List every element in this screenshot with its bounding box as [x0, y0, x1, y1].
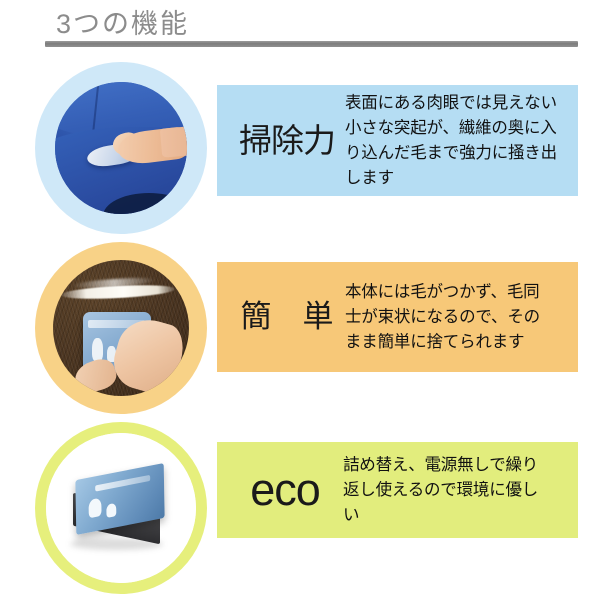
title-divider [45, 41, 578, 47]
box-graphic [88, 497, 102, 518]
feature-label: 掃除力 [229, 123, 345, 159]
box-brand-label [94, 475, 149, 492]
hand-cleaning-blue-sofa-photo [55, 82, 187, 214]
forearm [159, 125, 187, 158]
feature-image-eco [22, 420, 202, 596]
feature-image-cleaning-power [22, 60, 202, 236]
feature-panel-easy: 簡 単 本体には毛がつかず、毛同士が束状になるので、そのまま簡単に捨てられます [217, 262, 578, 372]
feature-row: 掃除力 表面にある肉眼では見えない小さな突起が、繊維の奥に入り込んだ毛まで強力に… [0, 56, 600, 236]
photo-ring [35, 422, 207, 594]
feature-description: 表面にある肉眼では見えない小さな突起が、繊維の奥に入り込んだ毛まで強力に掻き出し… [345, 91, 578, 191]
product-box-photo [46, 433, 196, 583]
page-header: 3つの機能 [0, 0, 600, 52]
feature-image-easy [22, 240, 202, 416]
feature-row: eco 詰め替え、電源無しで繰り返し使えるので環境に優しい [0, 416, 600, 596]
box-graphic-small [105, 503, 116, 518]
feature-row: 簡 単 本体には毛がつかず、毛同士が束状になるので、そのまま簡単に捨てられます [0, 236, 600, 416]
photo-ring [35, 62, 207, 234]
device-graphic [92, 338, 103, 361]
feature-panel-cleaning-power: 掃除力 表面にある肉眼では見えない小さな突起が、繊維の奥に入り込んだ毛まで強力に… [217, 85, 578, 196]
feature-description: 詰め替え、電源無しで繰り返し使えるので環境に優しい [343, 453, 578, 528]
page-title: 3つの機能 [56, 8, 189, 40]
feature-label: 簡 単 [229, 300, 345, 334]
feature-label: eco [227, 467, 343, 513]
feature-description: 本体には毛がつかず、毛同士が束状になるので、そのまま簡単に捨てられます [345, 280, 578, 355]
hand-with-device-on-brown-carpet-photo [53, 260, 189, 396]
feature-panel-eco: eco 詰め替え、電源無しで繰り返し使えるので環境に優しい [217, 442, 578, 538]
photo-ring [35, 242, 207, 414]
